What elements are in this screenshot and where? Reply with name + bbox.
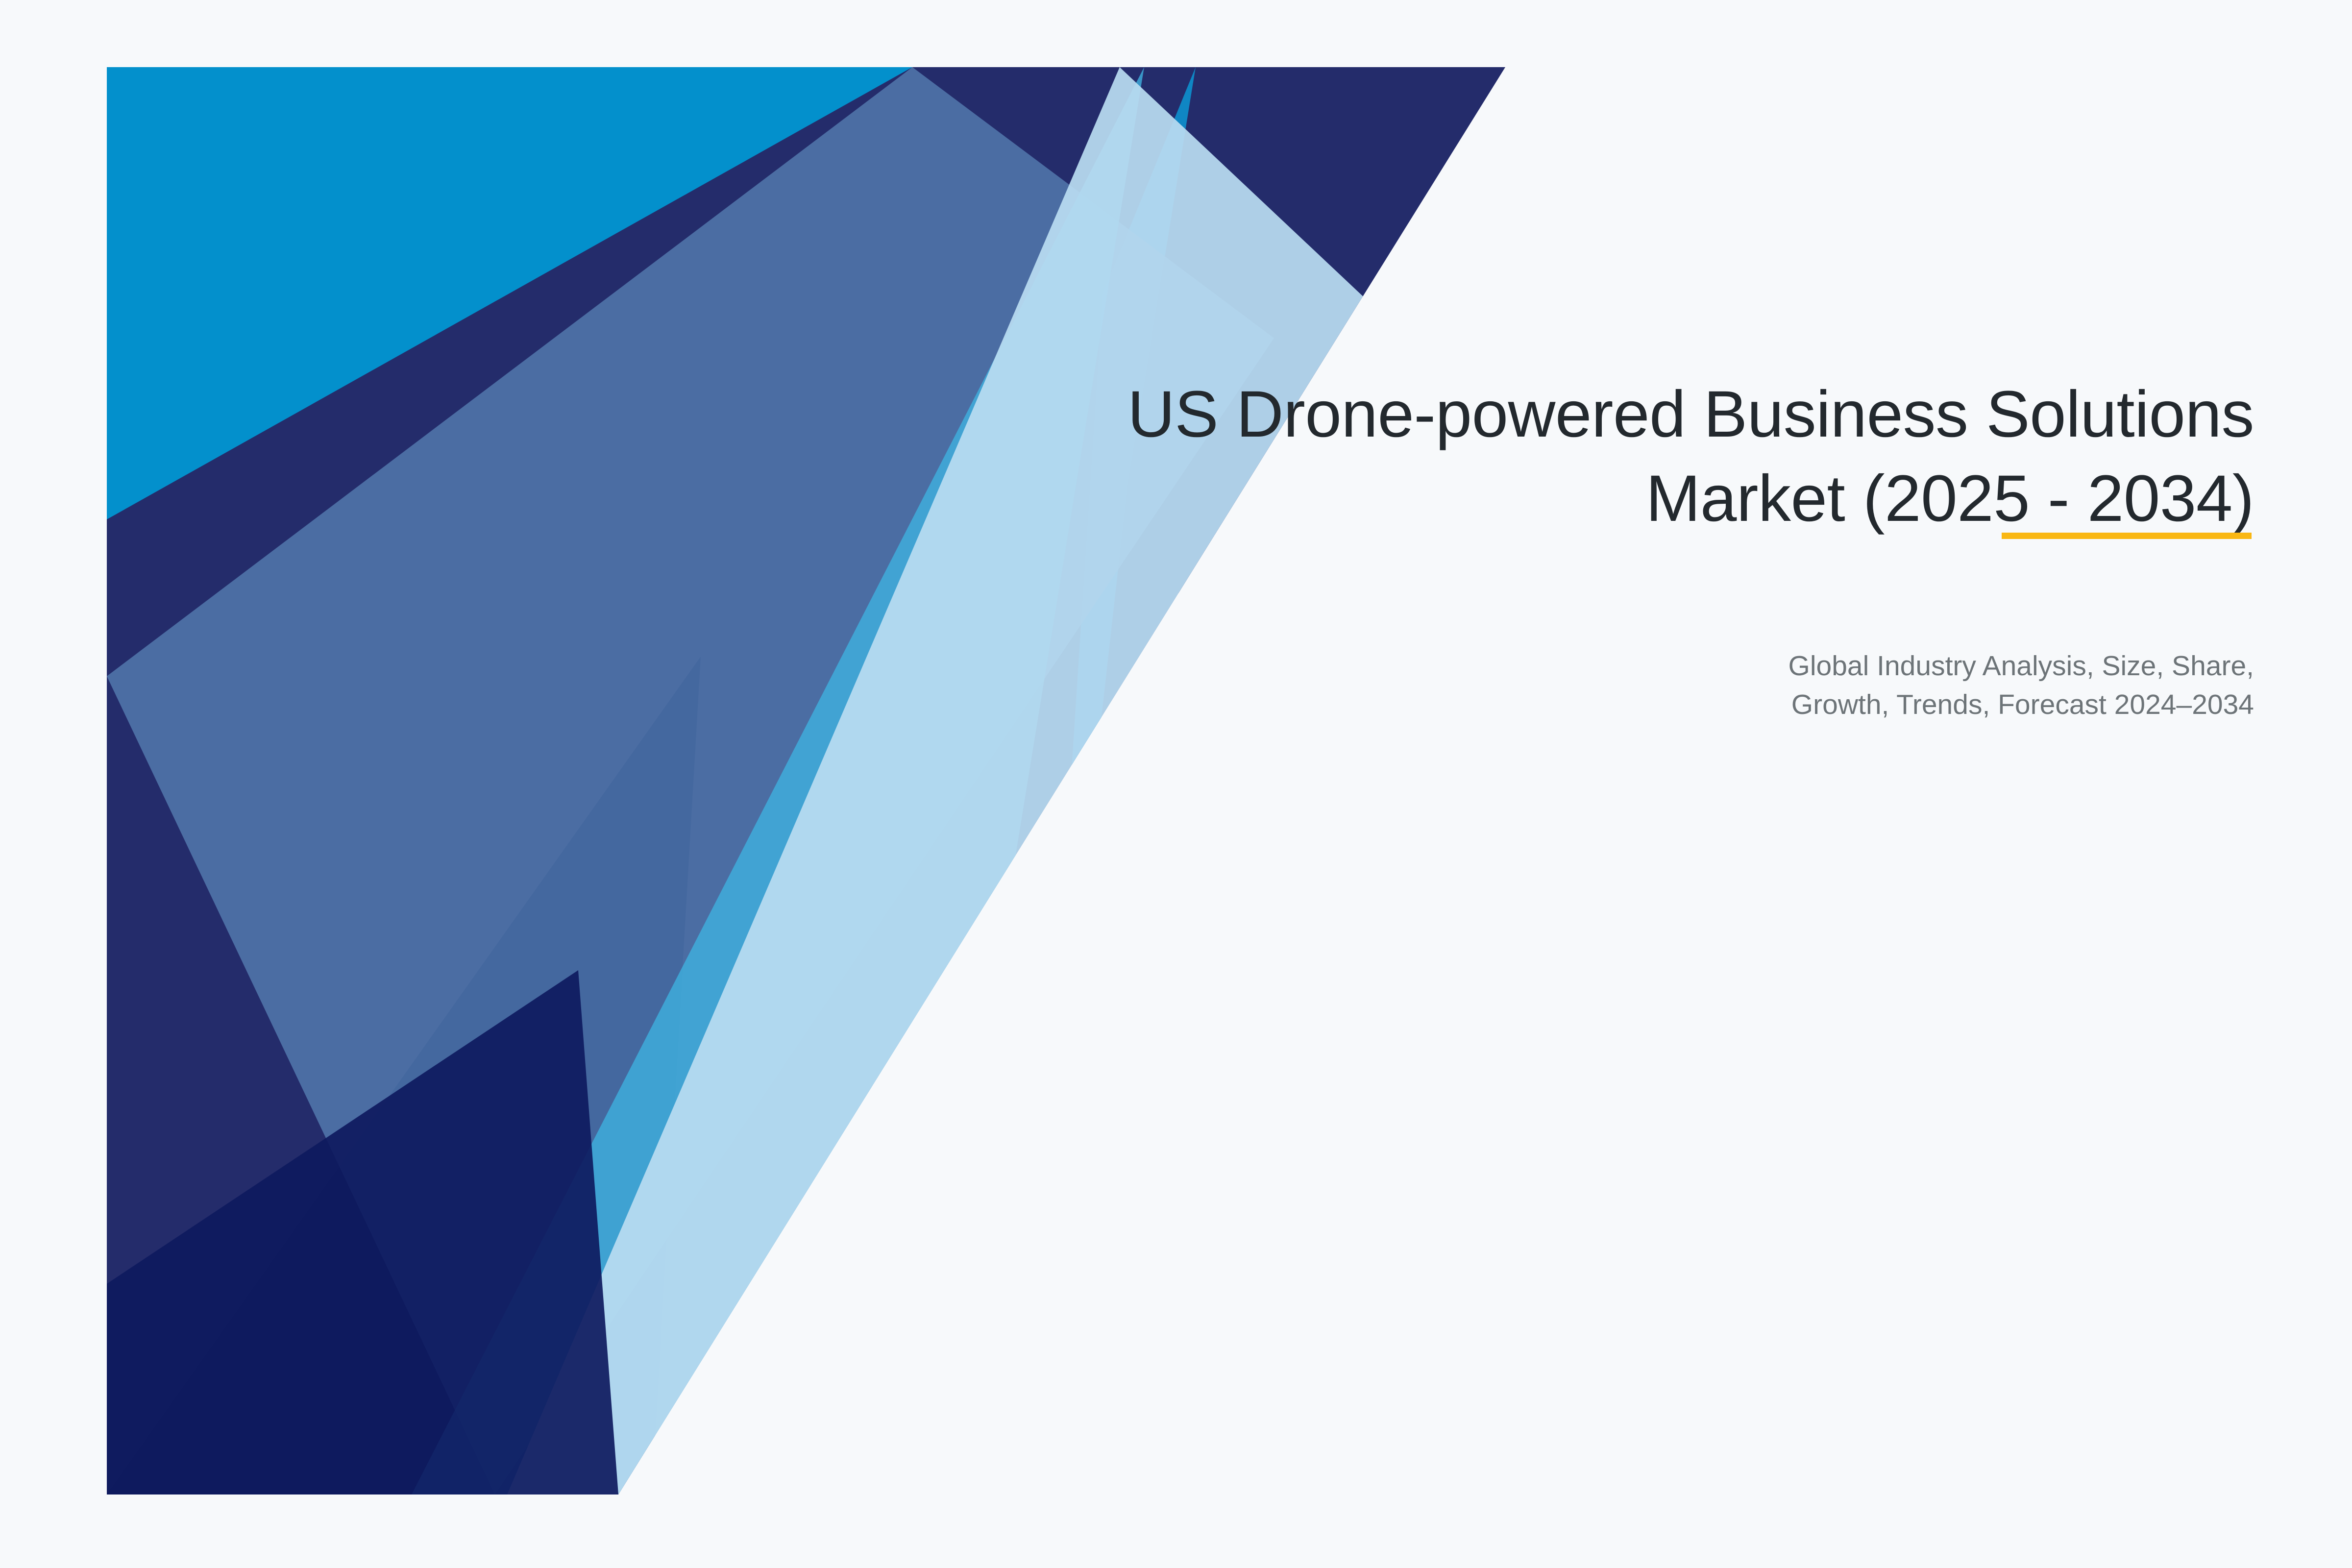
page-title: US Drone-powered Business Solutions Mark… xyxy=(833,372,2254,540)
title-accent-underline xyxy=(2002,533,2252,539)
report-cover: US Drone-powered Business Solutions Mark… xyxy=(0,0,2352,1568)
cover-subtitle: Global Industry Analysis, Size, Share, G… xyxy=(1421,647,2254,724)
abstract-geometric-artwork xyxy=(0,0,2352,1568)
cover-text-block: US Drone-powered Business Solutions Mark… xyxy=(833,372,2254,540)
